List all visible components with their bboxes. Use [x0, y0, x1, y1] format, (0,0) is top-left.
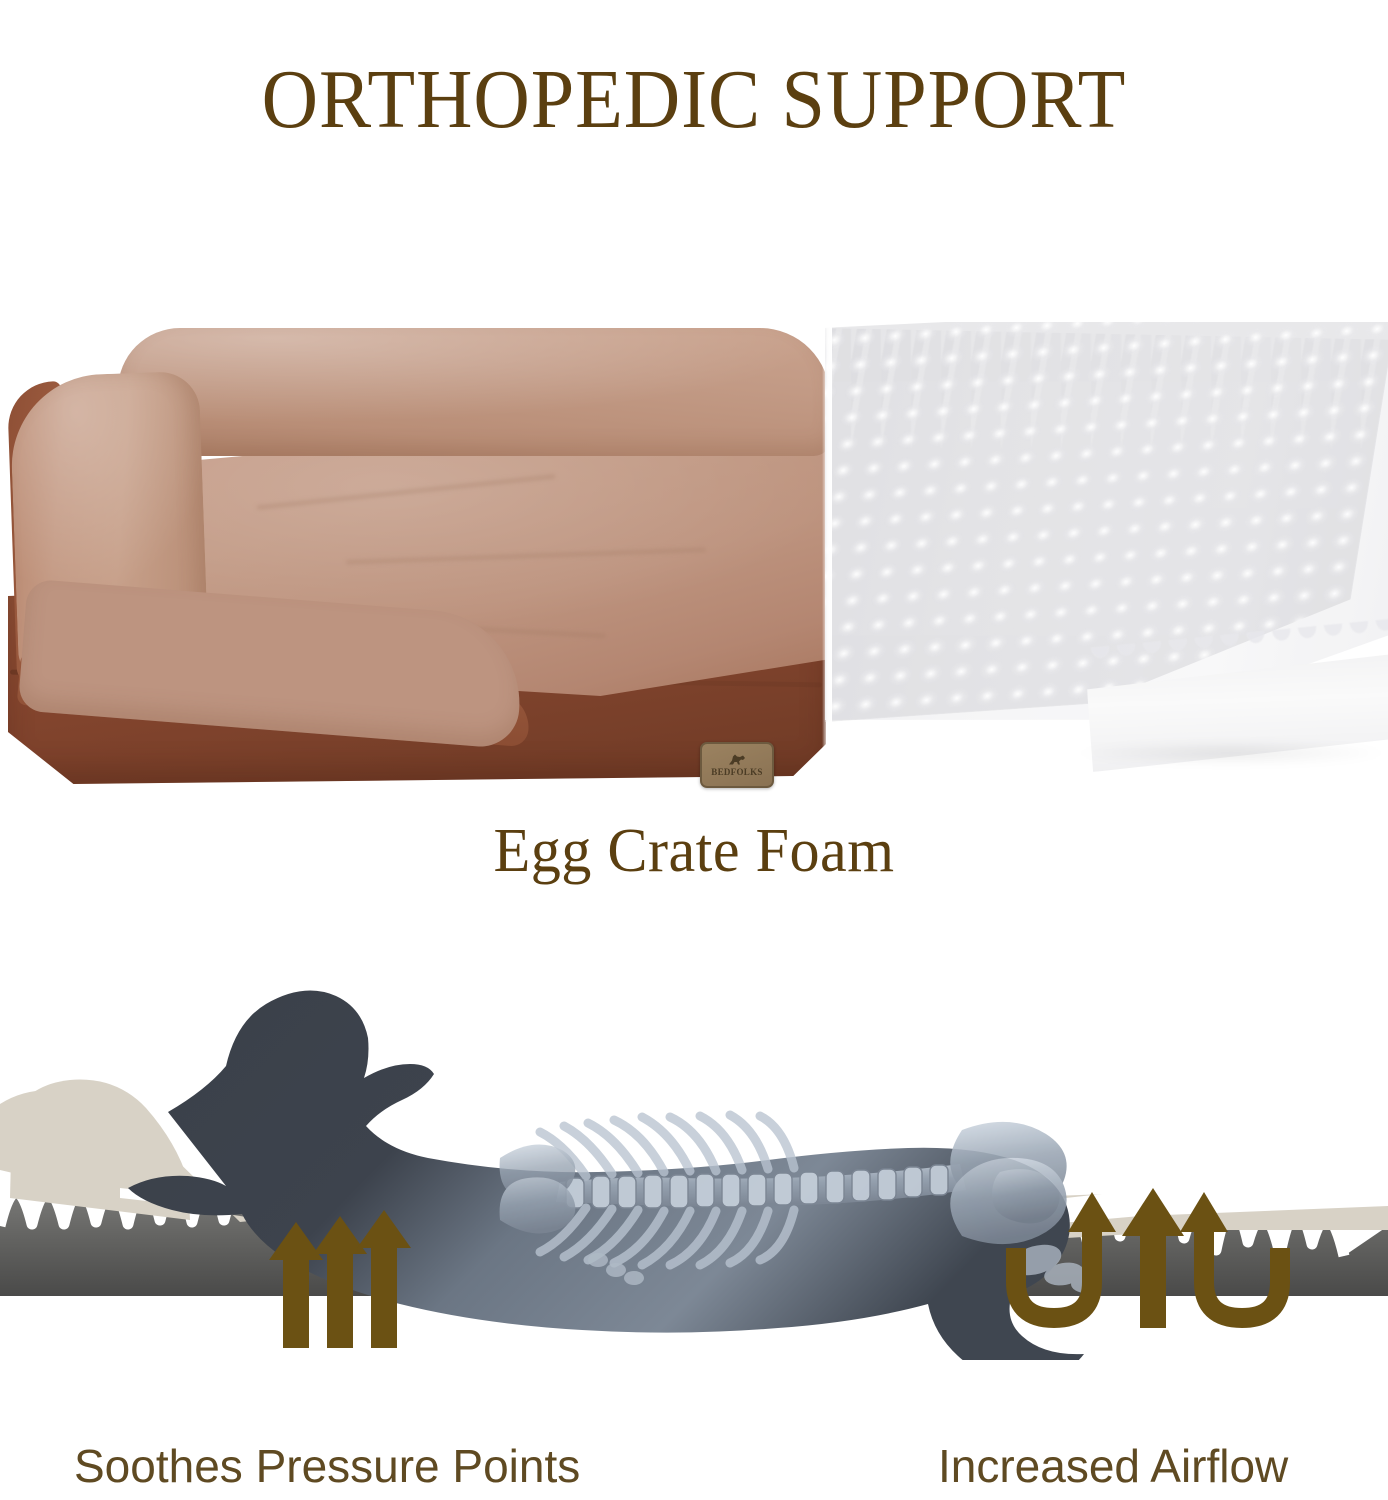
foam-drop-shadow	[1071, 740, 1388, 766]
bolster-back	[118, 328, 828, 456]
dog-icon	[726, 753, 748, 767]
egg-crate-foam-photo	[825, 322, 1388, 802]
dog-bed-photo	[0, 322, 828, 802]
photo-blend-seam	[822, 322, 832, 802]
fabric-fold	[346, 548, 706, 565]
cross-section-diagram	[0, 930, 1388, 1360]
label-increased-airflow: Increased Airflow	[938, 1438, 1288, 1494]
label-soothes-pressure-points: Soothes Pressure Points	[74, 1438, 580, 1494]
infographic-canvas: ORTHOPEDIC SUPPORT	[0, 0, 1388, 1500]
product-photo-band	[0, 322, 1388, 802]
fabric-fold	[257, 474, 556, 509]
brand-logo-text: BEDFOLKS	[711, 768, 762, 777]
brand-logo-patch: BEDFOLKS	[700, 742, 774, 788]
dog-silhouette	[128, 991, 1101, 1360]
foam-caption: Egg Crate Foam	[21, 812, 1367, 890]
page-title: ORTHOPEDIC SUPPORT	[49, 52, 1340, 148]
pressure-arrows-left	[269, 1210, 411, 1348]
